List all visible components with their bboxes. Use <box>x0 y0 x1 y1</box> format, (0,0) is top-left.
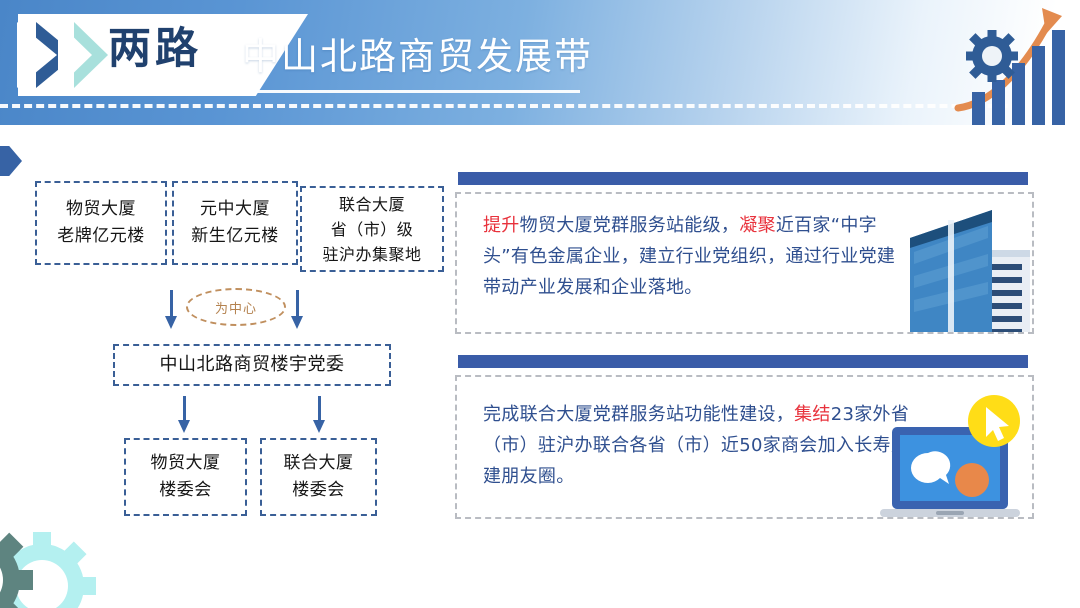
flow-box-line: 楼委会 <box>284 477 354 504</box>
flow-box-line: 元中大厦 <box>191 196 279 223</box>
down-arrow-icon <box>164 290 178 330</box>
flow-center-connector: 为中心 <box>160 286 310 332</box>
card-text-normal: 物贸大厦党群服务站能级， <box>520 215 740 236</box>
flow-box-line: 老牌亿元楼 <box>57 223 145 250</box>
chevron-mint-icon-notch <box>58 22 92 88</box>
flow-box-party-committee: 中山北路商贸楼宇党委 <box>113 344 391 386</box>
arrow-marker-icon <box>0 146 22 176</box>
flow-box-line: 联合大厦 <box>284 450 354 477</box>
slide-root: 两路 中山北路商贸发展带 <box>0 0 1080 608</box>
header-dashed-divider <box>0 104 1080 108</box>
gear-icon <box>966 30 1018 82</box>
down-arrow-icon <box>290 290 304 330</box>
card-2: 完成联合大厦党群服务站功能性建设，集结23家外省（市）驻沪办联合各省（市）近50… <box>455 375 1034 519</box>
card-2-text: 完成联合大厦党群服务站功能性建设，集结23家外省（市）驻沪办联合各省（市）近50… <box>483 399 915 492</box>
card-text-highlight: 凝聚 <box>739 215 776 236</box>
page-title: 中山北路商贸发展带 <box>242 34 593 82</box>
laptop-cursor-icon <box>876 387 1034 519</box>
card-1-text: 提升物贸大厦党群服务站能级，凝聚近百家“中字头”有色金属企业，建立行业党组织，通… <box>483 210 901 303</box>
card-text-normal: 完成联合大厦党群服务站功能性建设， <box>483 404 794 425</box>
flow-box-line: 楼委会 <box>151 477 221 504</box>
page-title-underline <box>242 90 580 93</box>
down-arrow-icon <box>177 396 191 434</box>
flow-box-lianhe-committee: 联合大厦 楼委会 <box>260 438 377 516</box>
header-banner-label: 两路 <box>108 19 202 81</box>
flow-box-line: 物贸大厦 <box>151 450 221 477</box>
flow-box-yuanzhong-building: 元中大厦 新生亿元楼 <box>172 181 298 265</box>
flow-box-wumao-committee: 物贸大厦 楼委会 <box>124 438 247 516</box>
flow-center-tag: 为中心 <box>186 288 286 326</box>
growth-chart-icon <box>930 0 1080 125</box>
flow-box-line: 物贸大厦 <box>57 196 145 223</box>
flow-box-lianhe-building: 联合大厦 省（市）级 驻沪办集聚地 <box>300 186 444 272</box>
card-text-highlight: 集结 <box>794 404 831 425</box>
flow-box-line: 省（市）级 <box>322 217 421 242</box>
flow-box-line: 新生亿元楼 <box>191 223 279 250</box>
bottom-left-gears <box>0 508 192 608</box>
card-1: 提升物贸大厦党群服务站能级，凝聚近百家“中字头”有色金属企业，建立行业党组织，通… <box>455 192 1034 334</box>
chevron-dark-icon-notch <box>17 22 57 88</box>
card-2-accent-bar <box>458 355 1028 368</box>
slide-header: 两路 中山北路商贸发展带 <box>0 0 1080 125</box>
flow-box-line: 联合大厦 <box>322 192 421 217</box>
flow-box-line: 驻沪办集聚地 <box>322 242 421 267</box>
flow-box-wumao-building: 物贸大厦 老牌亿元楼 <box>35 181 167 265</box>
header-decoration <box>930 0 1080 125</box>
office-building-icon <box>884 208 1034 334</box>
card-1-accent-bar <box>458 172 1028 185</box>
down-arrow-icon <box>312 396 326 434</box>
card-text-highlight: 提升 <box>483 215 520 236</box>
